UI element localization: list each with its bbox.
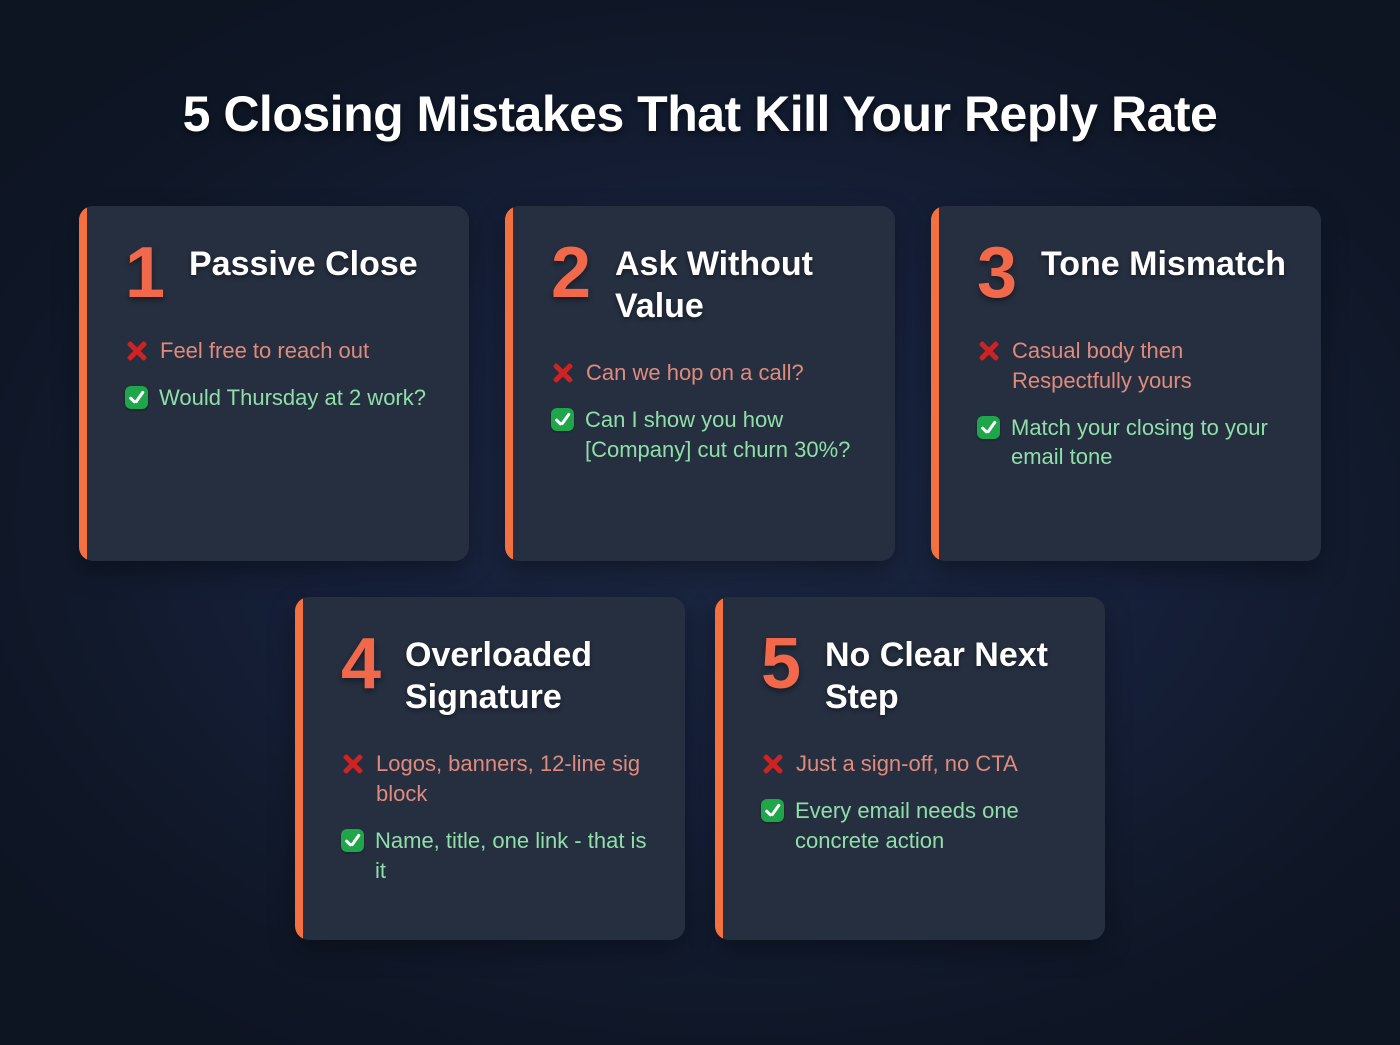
check-mark-icon [125,386,148,409]
bullet-good-text: Name, title, one link - that is it [375,826,659,886]
card-number: 5 [761,631,807,697]
bullet-bad: Just a sign-off, no CTA [761,749,1079,779]
card-bullets: Just a sign-off, no CTA Every email need… [761,749,1079,856]
bullet-bad: Casual body then Respectfully yours [977,336,1295,396]
accent-bar [715,597,723,940]
cross-mark-icon [551,361,575,385]
accent-bar [79,206,87,561]
check-mark-icon [977,416,1000,439]
bullet-good: Name, title, one link - that is it [341,826,659,886]
card-number: 1 [125,240,171,306]
bullet-bad: Feel free to reach out [125,336,443,366]
infographic-page: 5 Closing Mistakes That Kill Your Reply … [0,0,1400,1045]
title-section: 5 Closing Mistakes That Kill Your Reply … [0,0,1400,141]
bullet-good-text: Every email needs one concrete action [795,796,1079,856]
bullet-good-text: Would Thursday at 2 work? [159,383,443,413]
card-title: No Clear Next Step [825,631,1079,720]
bullet-good: Match your closing to your email tone [977,413,1295,473]
accent-bar [505,206,513,561]
bullet-good-text: Match your closing to your email tone [1011,413,1295,473]
cross-mark-icon [125,339,149,363]
check-mark-icon [341,829,364,852]
bullet-bad-text: Feel free to reach out [160,336,443,366]
card-title: Passive Close [189,240,418,286]
bullet-bad-text: Logos, banners, 12-line sig block [376,749,659,809]
cross-mark-icon [341,752,365,776]
card-header: 1 Passive Close [125,240,443,306]
card-number: 2 [551,240,597,306]
card-title: Tone Mismatch [1041,240,1286,286]
bullet-bad: Logos, banners, 12-line sig block [341,749,659,809]
mistake-card-2: 2 Ask Without Value Can we hop on a call… [505,206,895,561]
card-bullets: Logos, banners, 12-line sig block Name, … [341,749,659,886]
card-header: 2 Ask Without Value [551,240,869,329]
card-row-bottom: 4 Overloaded Signature Logos, banners, 1… [0,597,1400,940]
cross-mark-icon [977,339,1001,363]
mistake-card-3: 3 Tone Mismatch Casual body then Respect… [931,206,1321,561]
bullet-good: Would Thursday at 2 work? [125,383,443,413]
card-number: 3 [977,240,1023,306]
card-number: 4 [341,631,387,697]
bullet-good-text: Can I show you how [Company] cut churn 3… [585,405,869,465]
mistake-card-4: 4 Overloaded Signature Logos, banners, 1… [295,597,685,940]
bullet-good: Every email needs one concrete action [761,796,1079,856]
accent-bar [931,206,939,561]
card-header: 3 Tone Mismatch [977,240,1295,306]
bullet-bad: Can we hop on a call? [551,358,869,388]
bullet-bad-text: Just a sign-off, no CTA [796,749,1079,779]
page-title: 5 Closing Mistakes That Kill Your Reply … [0,88,1400,141]
mistake-card-1: 1 Passive Close Feel free to reach out W… [79,206,469,561]
bullet-bad-text: Can we hop on a call? [586,358,869,388]
card-row-top: 1 Passive Close Feel free to reach out W… [0,206,1400,561]
card-header: 4 Overloaded Signature [341,631,659,720]
card-bullets: Feel free to reach out Would Thursday at… [125,336,443,413]
bullet-good: Can I show you how [Company] cut churn 3… [551,405,869,465]
accent-bar [295,597,303,940]
check-mark-icon [761,799,784,822]
card-title: Overloaded Signature [405,631,659,720]
card-bullets: Casual body then Respectfully yours Matc… [977,336,1295,473]
check-mark-icon [551,408,574,431]
card-title: Ask Without Value [615,240,869,329]
mistake-card-5: 5 No Clear Next Step Just a sign-off, no… [715,597,1105,940]
card-header: 5 No Clear Next Step [761,631,1079,720]
card-bullets: Can we hop on a call? Can I show you how… [551,358,869,465]
bullet-bad-text: Casual body then Respectfully yours [1012,336,1295,396]
cross-mark-icon [761,752,785,776]
